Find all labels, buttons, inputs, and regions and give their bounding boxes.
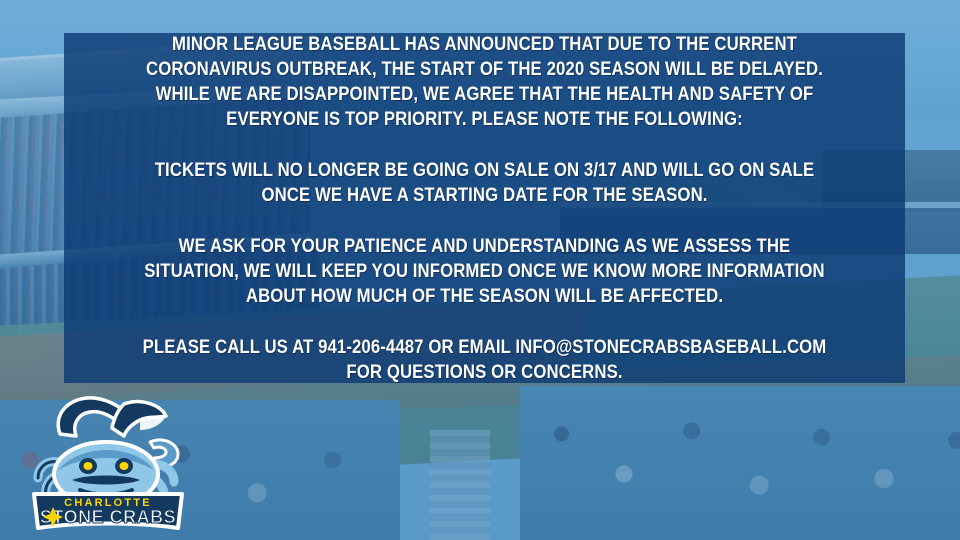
announcement-paragraph-3: WE ASK FOR YOUR PATIENCE AND UNDERSTANDI… — [138, 234, 830, 309]
announcement-panel: MINOR LEAGUE BASEBALL HAS ANNOUNCED THAT… — [64, 33, 905, 383]
announcement-paragraph-2: TICKETS WILL NO LONGER BE GOING ON SALE … — [138, 158, 830, 208]
announcement-paragraph-1: MINOR LEAGUE BASEBALL HAS ANNOUNCED THAT… — [138, 32, 830, 132]
branding-bar: CHARLOTTE STONE CRABS 941.206.HITS STONE… — [0, 384, 960, 540]
announcement-paragraph-4: PLEASE CALL US AT 941-206-4487 OR EMAIL … — [138, 335, 830, 385]
promo-graphic: MINOR LEAGUE BASEBALL HAS ANNOUNCED THAT… — [0, 0, 960, 540]
team-logo[interactable]: CHARLOTTE STONE CRABS — [28, 390, 188, 536]
crab-mascot-icon: CHARLOTTE STONE CRABS — [28, 390, 188, 536]
